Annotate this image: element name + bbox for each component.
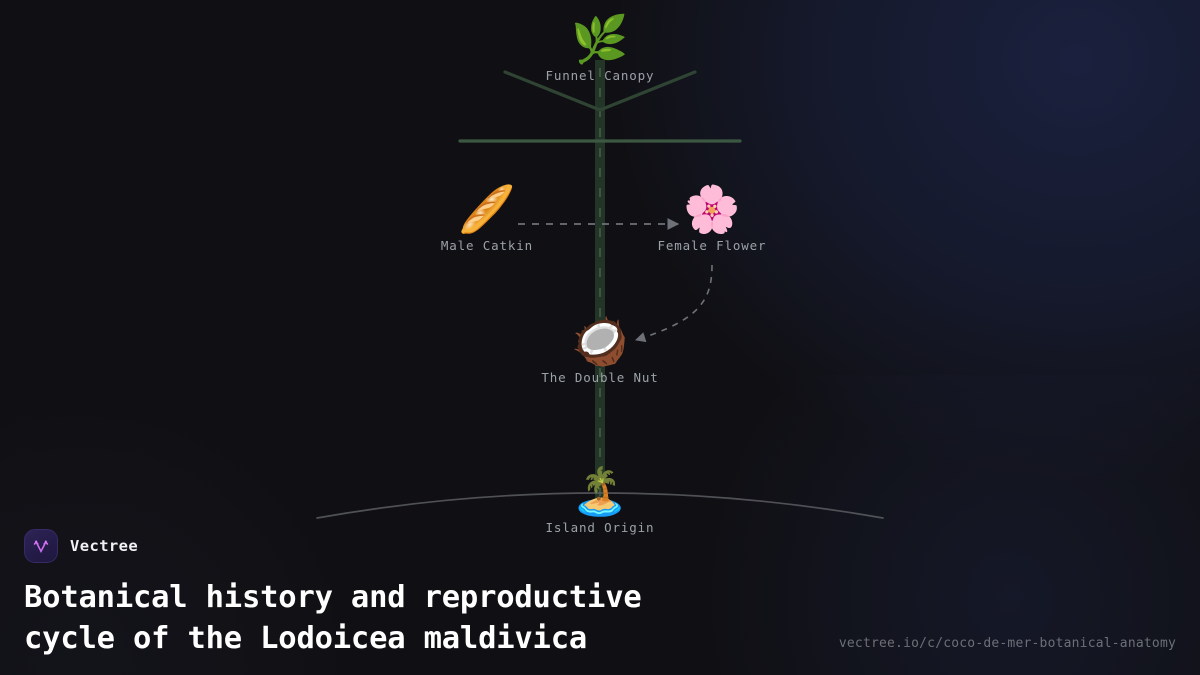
node-label-female-flower: Female Flower <box>592 238 832 253</box>
diagram-node-double-nut[interactable]: 🥥 The Double Nut <box>480 314 720 385</box>
footer-main: Botanical history and reproductive cycle… <box>24 577 1176 659</box>
diagram-node-male-catkin[interactable]: 🥖 Male Catkin <box>367 182 607 253</box>
diagram-node-island-origin[interactable]: 🏝️ Island Origin <box>480 464 720 535</box>
page-url: vectree.io/c/coco-de-mer-botanical-anato… <box>839 636 1176 659</box>
desert-island-icon: 🏝️ <box>480 464 720 518</box>
footer: Vectree Botanical history and reproducti… <box>0 529 1200 675</box>
page-title-line-1: Botanical history and reproductive <box>24 580 642 615</box>
brand-row[interactable]: Vectree <box>24 529 1176 563</box>
node-label-funnel-canopy: Funnel Canopy <box>480 68 720 83</box>
baguette-catkin-icon: 🥖 <box>367 182 607 236</box>
node-label-double-nut: The Double Nut <box>480 370 720 385</box>
node-label-male-catkin: Male Catkin <box>367 238 607 253</box>
page-title: Botanical history and reproductive cycle… <box>24 577 642 659</box>
page-title-line-2: cycle of the Lodoicea maldivica <box>24 621 587 656</box>
diagram-node-funnel-canopy[interactable]: 🌿 Funnel Canopy <box>480 12 720 83</box>
vectree-tree-logo-icon <box>24 529 58 563</box>
cherry-blossom-icon: 🌸 <box>592 182 832 236</box>
diagram-node-female-flower[interactable]: 🌸 Female Flower <box>592 182 832 253</box>
herb-leaves-icon: 🌿 <box>480 12 720 66</box>
brand-name: Vectree <box>70 537 138 555</box>
coconut-icon: 🥥 <box>480 314 720 368</box>
